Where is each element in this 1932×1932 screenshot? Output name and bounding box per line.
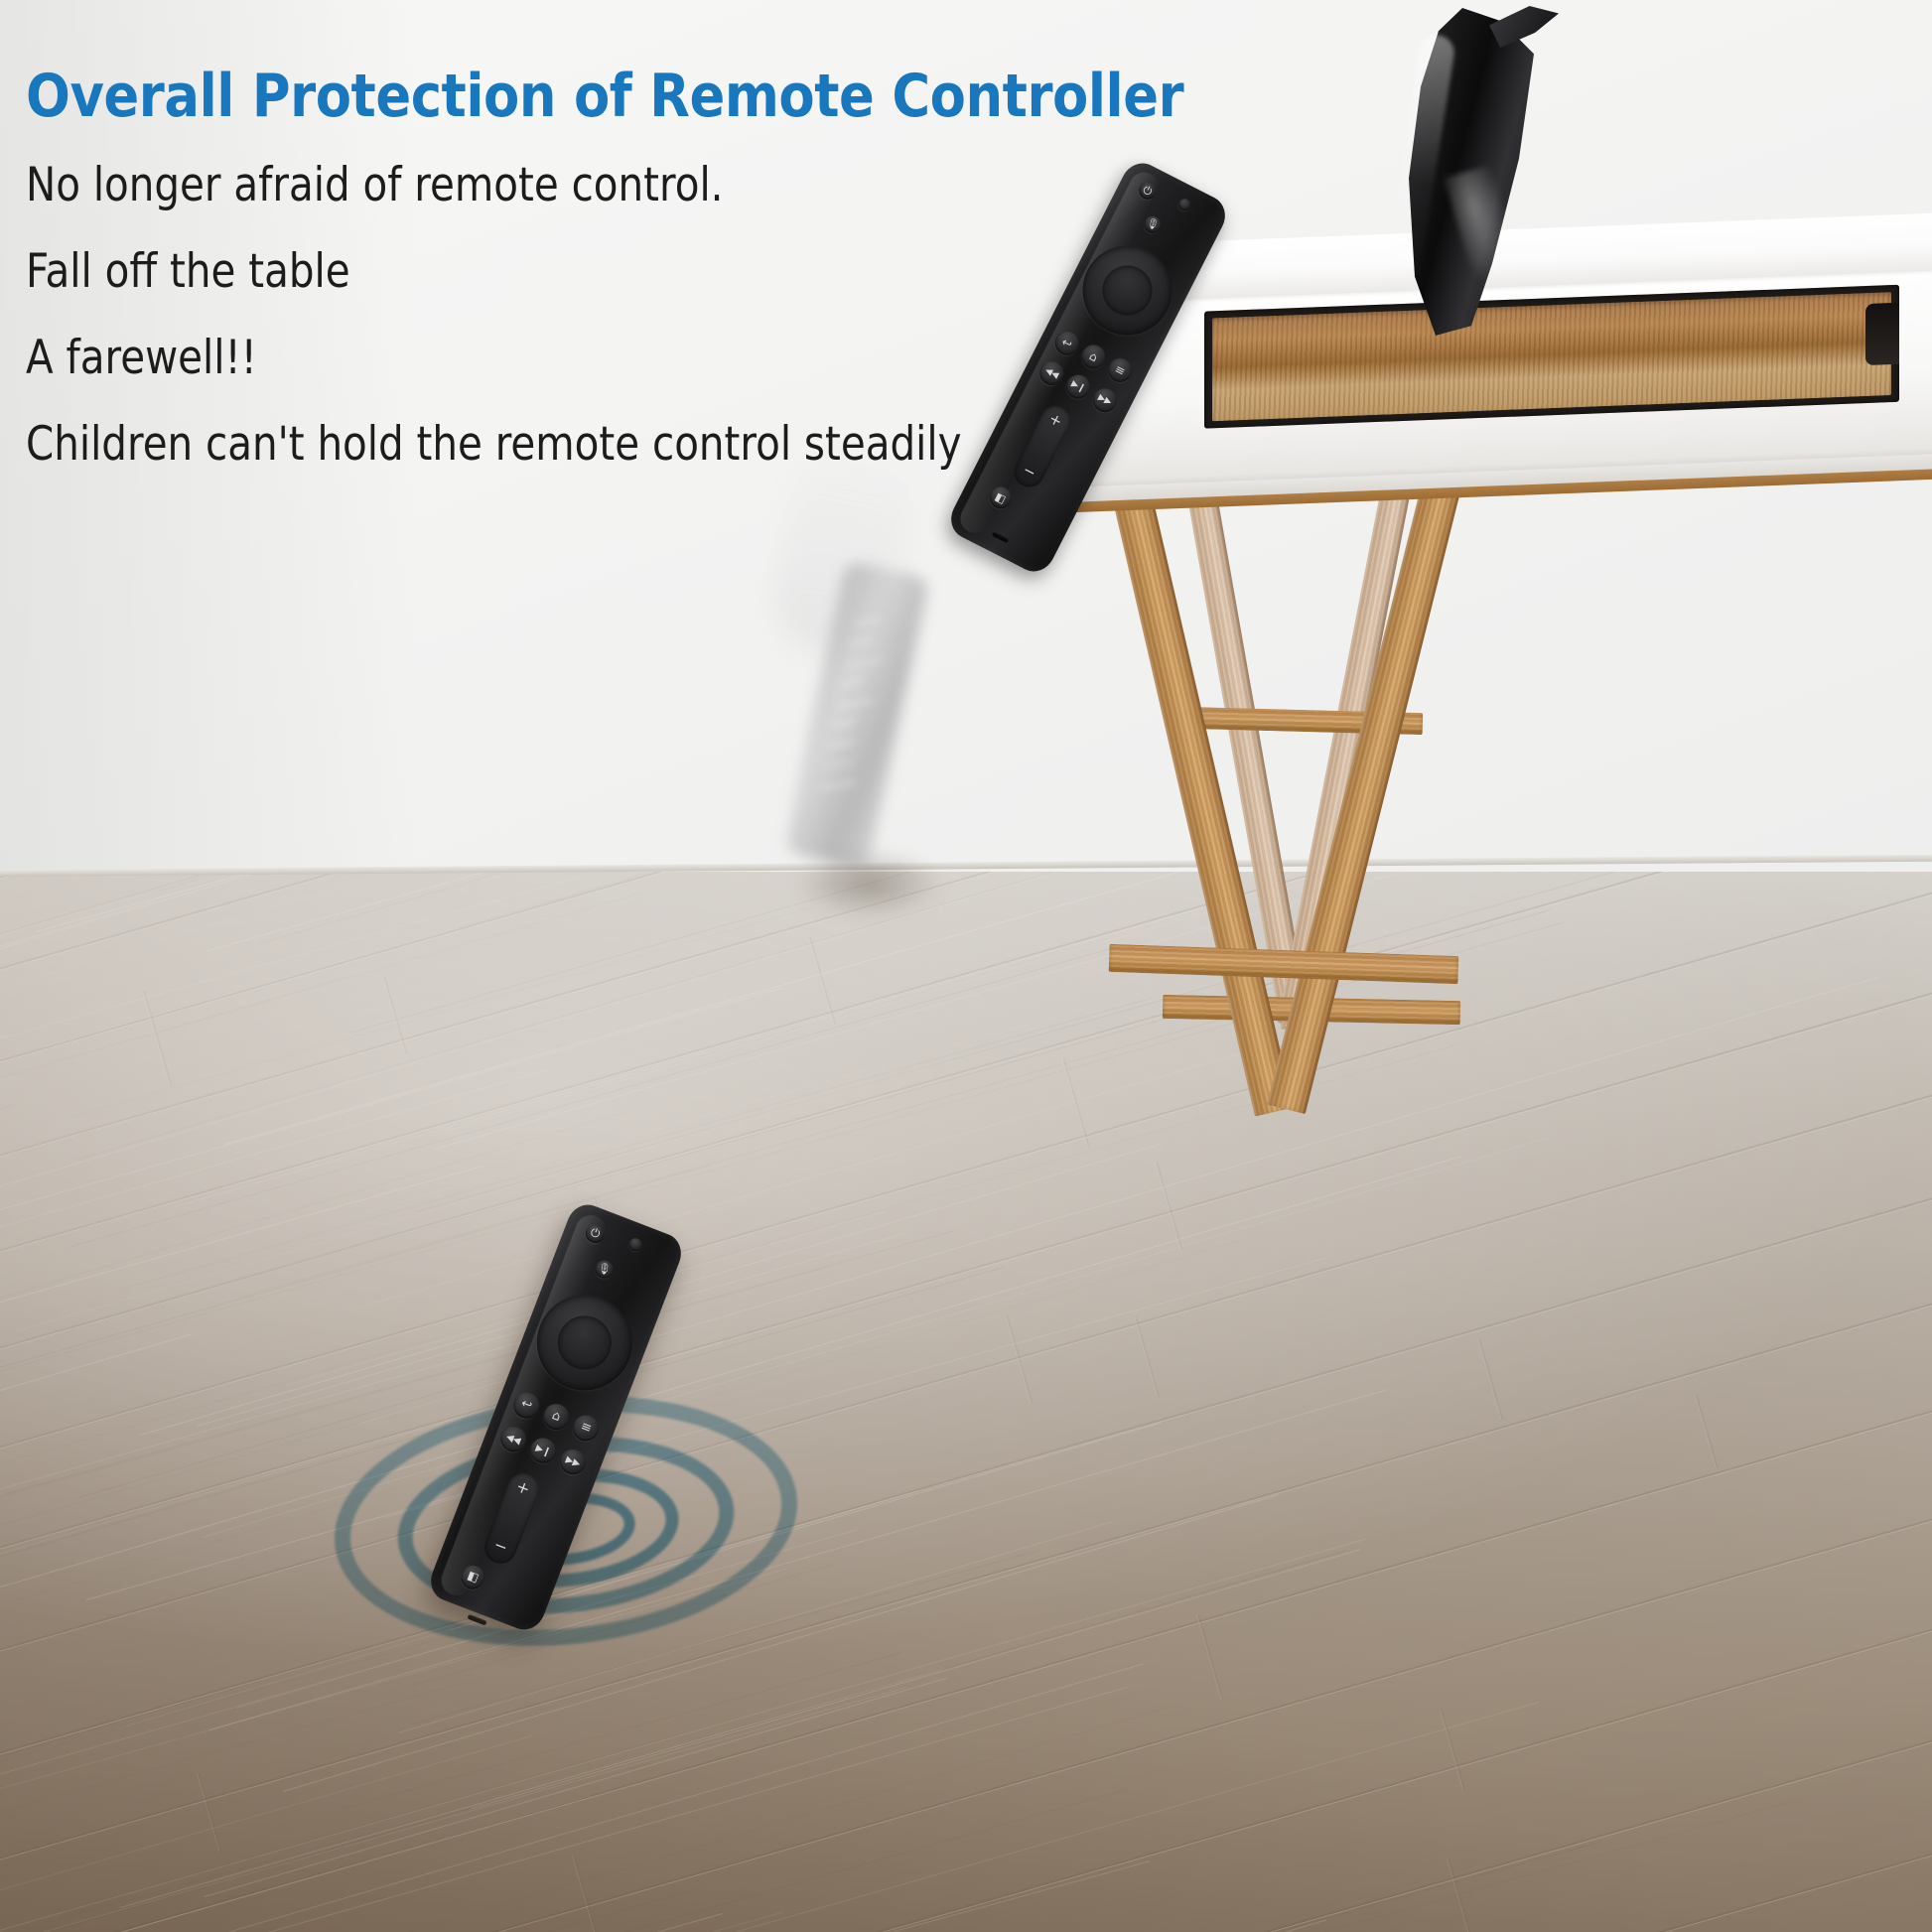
copy-line-2: Fall off the table <box>26 248 1067 295</box>
drawer-wood-front <box>1212 292 1891 421</box>
page-title: Overall Protection of Remote Controller <box>26 66 1092 128</box>
copy-line-4: Children can't hold the remote control s… <box>26 421 1067 468</box>
motion-blur-streak <box>823 759 855 768</box>
play-pause-button[interactable]: ▶❙ <box>526 1435 559 1467</box>
product-lifestyle-scene: ⏻🎙↩⌂≡◀◀▶❙▶▶+−◧ ⏻🎙↩⌂≡◀◀▶❙▶▶+−◧ Overall Pr… <box>0 0 1932 1932</box>
motion-blur-streak <box>854 618 882 626</box>
fast-forward-button[interactable]: ▶▶ <box>556 1446 589 1478</box>
motion-blur-streak <box>840 678 864 686</box>
microphone-button[interactable] <box>627 1236 644 1253</box>
dpad-select-button[interactable] <box>550 1308 620 1377</box>
copy-body: No longer afraid of remote control. Fall… <box>26 162 1237 468</box>
microphone-button-2-glyph: 🎙 <box>593 1258 617 1282</box>
fast-forward-button-glyph: ▶▶ <box>556 1446 589 1478</box>
menu-button-glyph: ≡ <box>570 1412 603 1445</box>
copy-line-3: A farewell!! <box>26 335 1067 381</box>
home-button-glyph: ⌂ <box>540 1401 573 1434</box>
ir-window <box>992 531 1010 544</box>
wood-plank-floor <box>0 872 1932 1932</box>
copy-line-1: No longer afraid of remote control. <box>26 162 1067 208</box>
motion-blur-streak <box>849 637 874 645</box>
motion-blur-streak <box>819 780 858 791</box>
falling-remote-shadow <box>794 849 943 918</box>
play-pause-button-glyph: ▶❙ <box>526 1435 559 1467</box>
motion-blur-streak <box>845 658 886 669</box>
home-button[interactable]: ⌂ <box>540 1401 573 1434</box>
motion-blur-streak <box>836 699 874 709</box>
menu-button[interactable]: ≡ <box>570 1412 603 1445</box>
floor-light-falloff <box>0 872 1932 1932</box>
desk-drawer[interactable] <box>1204 285 1899 429</box>
microphone-button-2[interactable]: 🎙 <box>593 1258 617 1282</box>
drawer-finger-pull[interactable] <box>1865 303 1899 365</box>
motion-blur-streak <box>827 740 855 749</box>
marketing-copy: Overall Protection of Remote Controller … <box>26 66 1237 507</box>
motion-blur-streak <box>832 719 856 727</box>
